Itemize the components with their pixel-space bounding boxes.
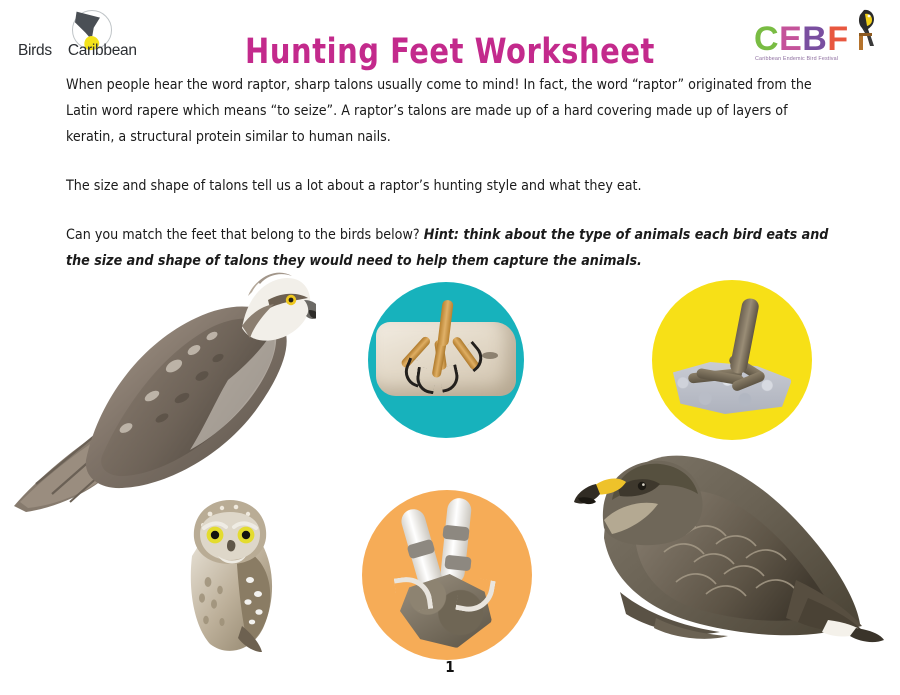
worksheet-body-text: When people hear the word raptor, sharp … [66,72,856,274]
foot-option-orange-circle[interactable] [362,490,532,660]
leg-band [444,555,471,572]
question-prompt: Can you match the feet that belong to th… [66,226,424,243]
foot-tarsus [729,297,760,375]
cebf-tagline: Caribbean Endemic Bird Festival [755,56,838,62]
worksheet-page: BirdsCaribbean Hunting Feet Worksheet CE… [0,0,900,695]
burrowing-owl-photo [158,494,308,654]
page-title: Hunting Feet Worksheet [36,32,864,72]
page-number: 1 [0,658,900,676]
cebf-letter-f: F [827,22,848,56]
hawk-photo [560,442,890,662]
osprey-photo [6,270,316,520]
paragraph-talon-shape-text: The size and shape of talons tell us a l… [66,177,642,194]
foot-option-yellow-circle[interactable] [652,280,812,440]
paragraph-intro: When people hear the word raptor, sharp … [66,72,832,150]
foot-option-teal-circle[interactable] [368,282,524,438]
leg-band [442,525,469,542]
matching-gallery [0,262,900,662]
cebf-letter-b: B [802,22,827,56]
cebf-logo: CEBF Caribbean Endemic Bird Festival [750,6,886,66]
paragraph-talon-shape: The size and shape of talons tell us a l… [66,173,832,199]
perched-warbler-icon [850,8,880,52]
cebf-letter-c: C [754,22,779,56]
feathered-leg [440,497,473,585]
cebf-letters: CEBF [754,22,849,56]
page-header: BirdsCaribbean Hunting Feet Worksheet CE… [0,0,900,68]
cebf-letter-e: E [779,22,802,56]
grasping-talon [455,575,496,616]
